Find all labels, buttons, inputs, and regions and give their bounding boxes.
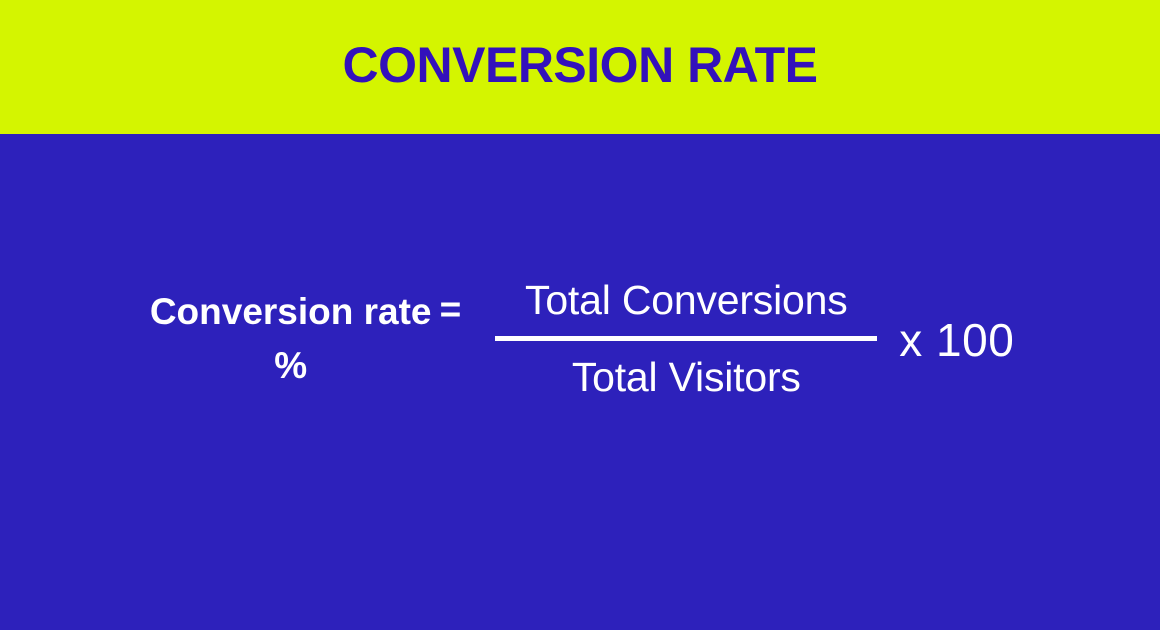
header-banner: CONVERSION RATE: [0, 0, 1160, 134]
formula-left-label: Conversion rate %: [146, 285, 436, 392]
fraction-bar: [495, 336, 877, 341]
fraction-denominator: Total Visitors: [572, 354, 801, 401]
formula-section: Conversion rate % = Total Conversions To…: [0, 134, 1160, 630]
page-title: CONVERSION RATE: [343, 40, 818, 90]
slide-canvas: CONVERSION RATE Conversion rate % = Tota…: [0, 0, 1160, 630]
equals-sign: =: [440, 283, 462, 337]
formula-row: Conversion rate % = Total Conversions To…: [0, 134, 1160, 630]
fraction: Total Conversions Total Visitors: [495, 277, 877, 401]
formula-expression: Conversion rate % = Total Conversions To…: [146, 277, 1015, 401]
fraction-numerator: Total Conversions: [525, 277, 847, 324]
formula-multiplier: x 100: [899, 317, 1014, 363]
